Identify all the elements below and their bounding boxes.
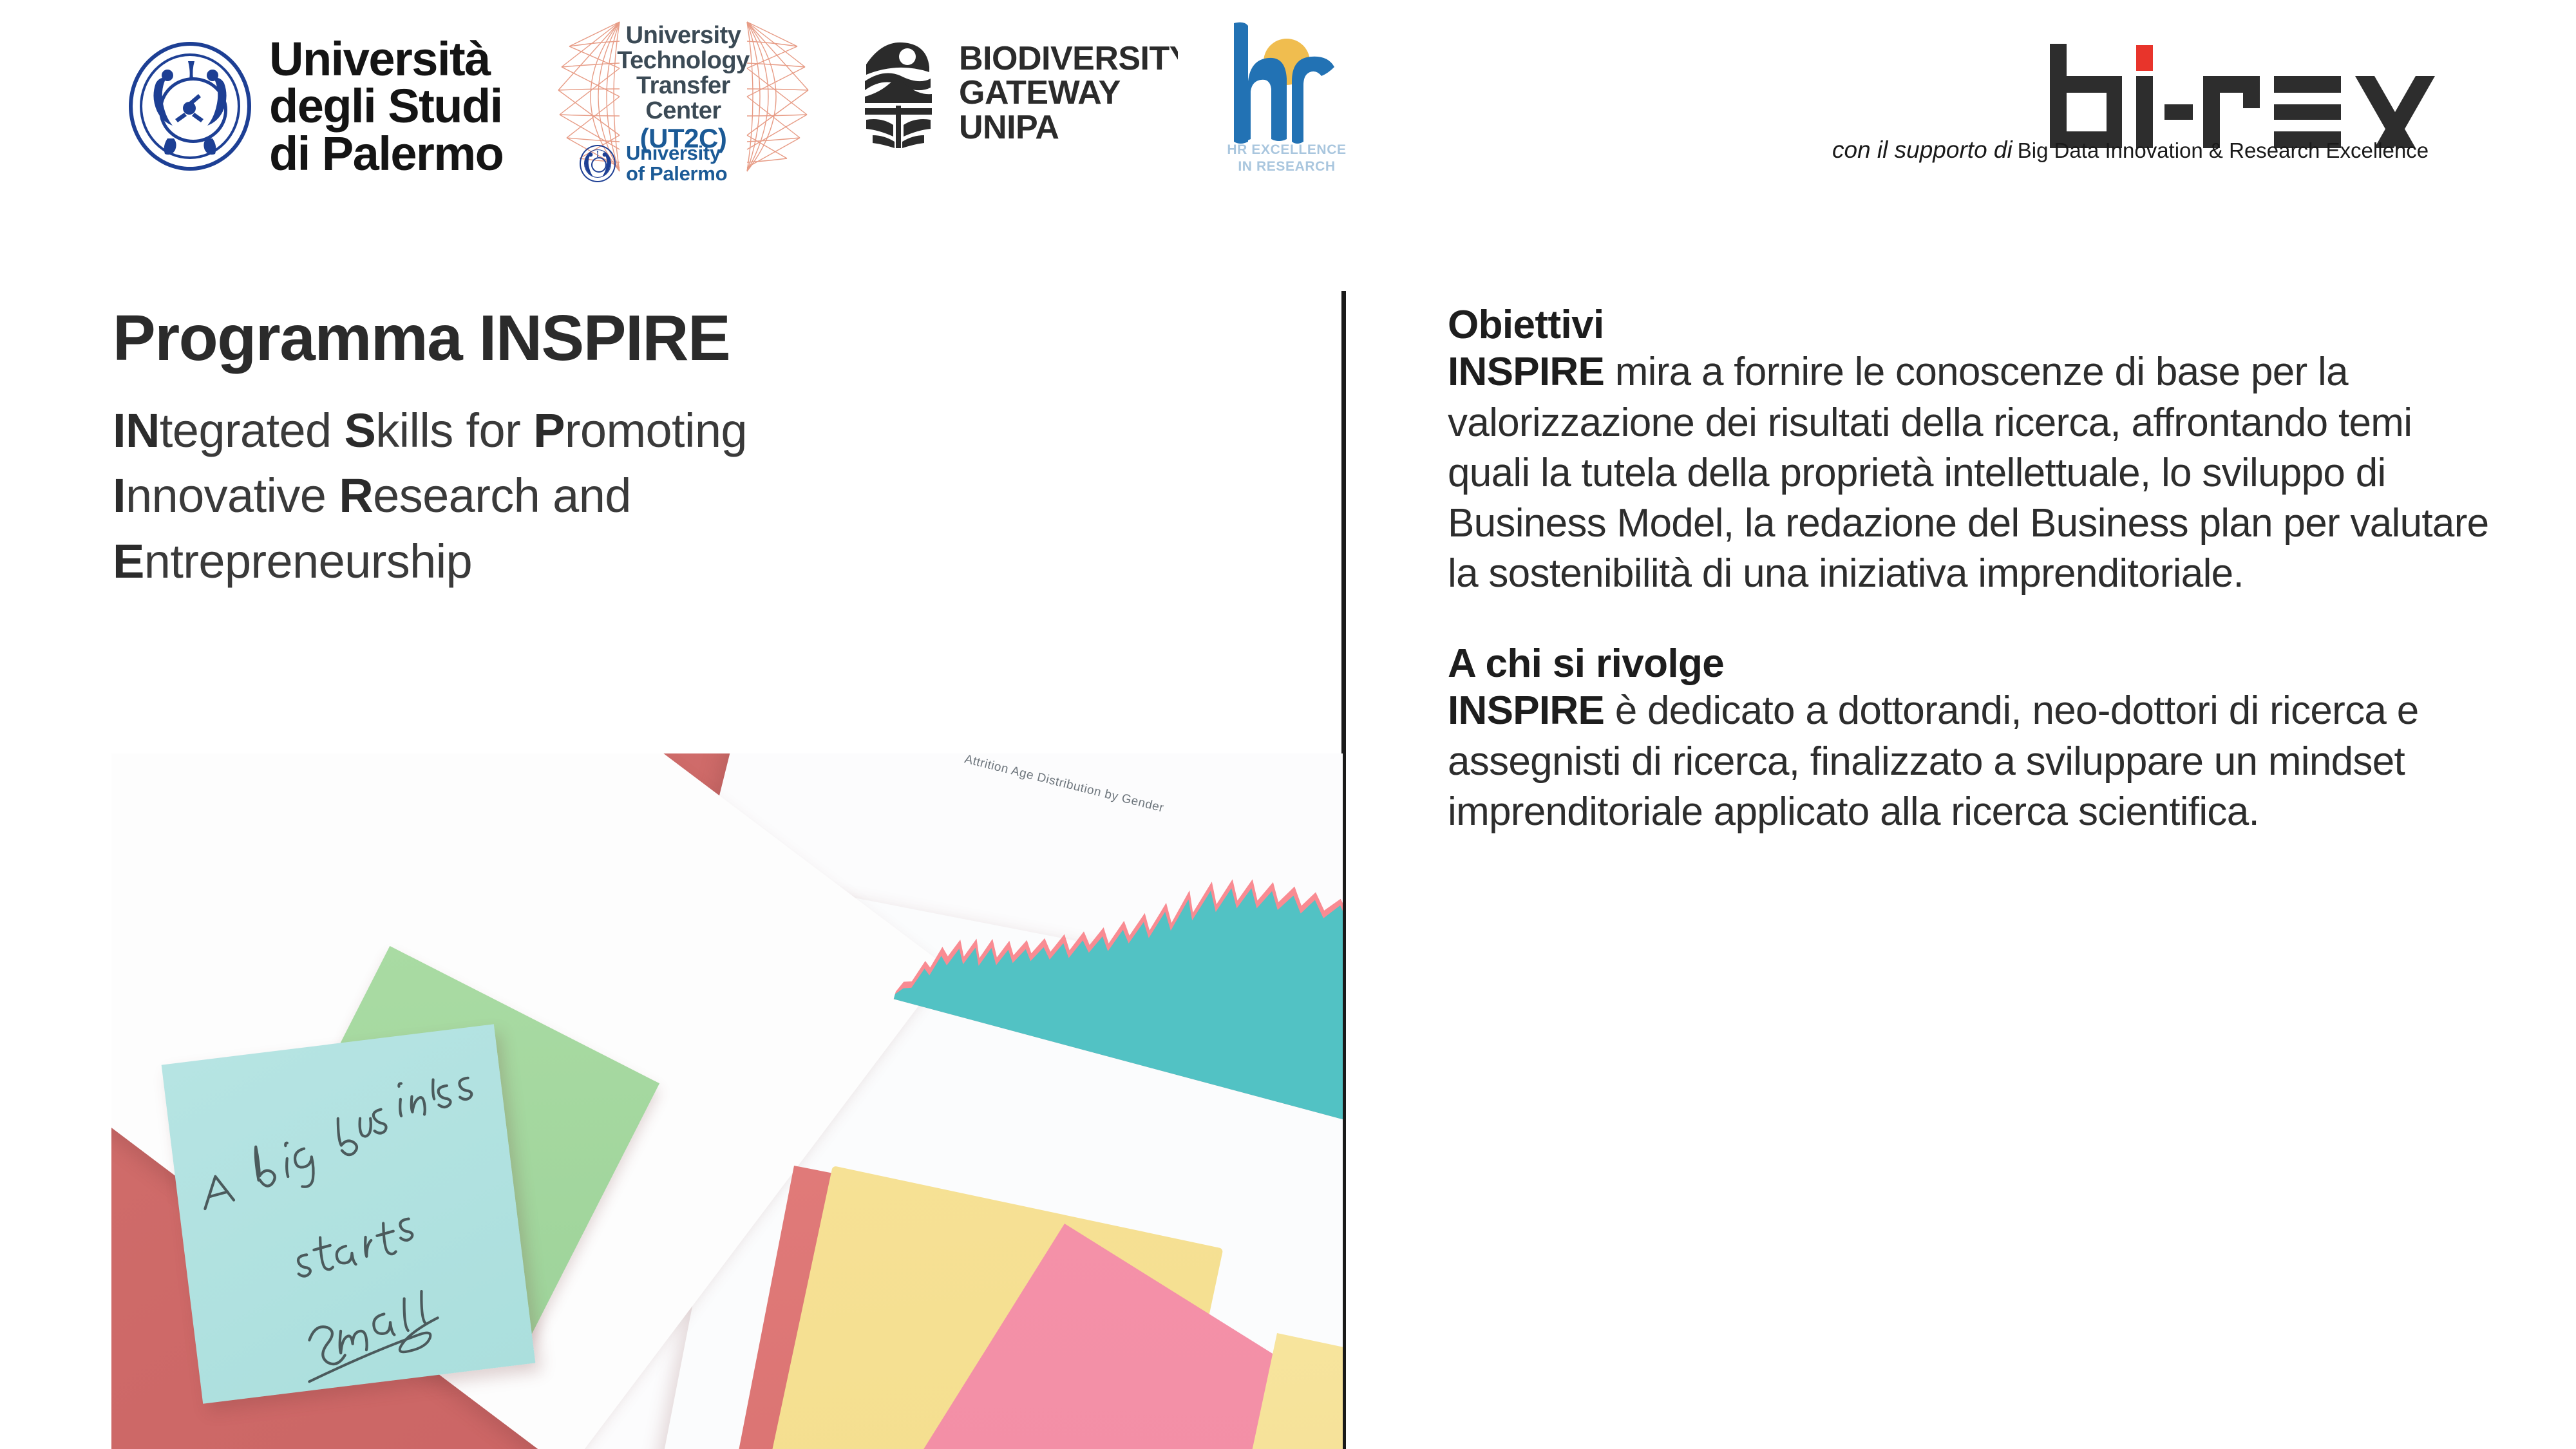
logo-ut2c: University Technology Transfer Center (U… [558, 17, 809, 178]
logo-biodiversity-gateway-unipa: BIODIVERSITY GATEWAY UNIPA [860, 39, 1178, 148]
logo-header: Università degli Studi di Palermo [0, 0, 2576, 213]
page-title: Programma INSPIRE [113, 303, 1317, 374]
ut2c-line-3: Transfer [608, 73, 759, 99]
ut2c-sub-line-1: University [626, 143, 727, 164]
unipa-seal-icon [129, 42, 251, 171]
acronym-r: R [339, 469, 373, 522]
ut2c-line-2: Technology [608, 48, 759, 73]
unipa-wordmark: Università degli Studi di Palermo [269, 35, 503, 177]
obiettivi-text: mira a fornire le conoscenze di base per… [1448, 350, 2488, 595]
photo-handwriting [162, 1024, 536, 1403]
logo-universita-degli-studi-di-palermo: Università degli Studi di Palermo [129, 35, 503, 177]
acronym-line-2: Innovative Research and [113, 463, 1317, 528]
bio-line-2: GATEWAY [959, 76, 1178, 111]
logo-hr-excellence-in-research: HR EXCELLENCE IN RESEARCH [1222, 19, 1345, 158]
inspire-lead-2: INSPIRE [1448, 688, 1604, 733]
logo-bi-rex: con il supporto di Big Data Innovation &… [2045, 40, 2450, 149]
acronym-romoting: romoting [565, 404, 747, 457]
acronym-s: S [345, 404, 376, 457]
birex-tagline: Big Data Innovation & Research Excellenc… [2018, 138, 2429, 163]
section-body-obiettivi: INSPIRE mira a fornire le conoscenze di … [1448, 347, 2491, 599]
unipa-line-1: Università [269, 35, 503, 82]
unipa-line-3: di Palermo [269, 130, 503, 177]
birex-support-label: con il supporto di [1832, 137, 2012, 164]
acronym-line-1: INtegrated Skills for Promoting [113, 398, 1317, 463]
program-acronym-expansion: INtegrated Skills for Promoting Innovati… [113, 398, 1317, 594]
acronym-kills-for: kills for [375, 404, 533, 457]
acronym-line-3: Entrepreneurship [113, 529, 1317, 594]
acronym-in: IN [113, 404, 160, 457]
acronym-i: I [113, 469, 126, 522]
sticky-note-photo: Attrition Age Distribution by Gender [111, 753, 1343, 1449]
hr-line-1: HR EXCELLENCE [1222, 142, 1351, 158]
acronym-nnovative: nnovative [126, 469, 339, 522]
ut2c-unipa-seal-icon [580, 145, 616, 182]
ut2c-sub-line-2: of Palermo [626, 164, 727, 184]
inspire-lead-1: INSPIRE [1448, 350, 1604, 394]
acronym-p: P [533, 404, 565, 457]
section-heading-obiettivi: Obiettivi [1448, 303, 2491, 347]
ut2c-line-1: University [608, 23, 759, 48]
left-column: Programma INSPIRE INtegrated Skills for … [113, 303, 1317, 594]
section-body-a-chi-si-rivolge: INSPIRE è dedicato a dottorandi, neo-dot… [1448, 686, 2491, 837]
unipa-seal-figures [129, 42, 251, 171]
bio-line-1: BIODIVERSITY [959, 42, 1178, 77]
ut2c-wordmark: University Technology Transfer Center (U… [608, 23, 759, 152]
bi-rex-wordmark [2045, 40, 2457, 153]
hr-excellence-icon [1222, 19, 1345, 158]
biodiversity-wordmark: BIODIVERSITY GATEWAY UNIPA [959, 42, 1178, 146]
biodiversity-leaf-icon [860, 39, 937, 148]
acronym-esearch-and: esearch and [373, 469, 631, 522]
acronym-e: E [113, 535, 144, 588]
unipa-line-2: degli Studi [269, 82, 503, 129]
hr-line-2: IN RESEARCH [1222, 158, 1351, 175]
hr-excellence-tagline: HR EXCELLENCE IN RESEARCH [1222, 142, 1351, 175]
section-heading-a-chi-si-rivolge: A chi si rivolge [1448, 641, 2491, 686]
right-column: Obiettivi INSPIRE mira a fornire le cono… [1448, 303, 2491, 837]
acronym-tegrated: tegrated [160, 404, 345, 457]
slide-root: Università degli Studi di Palermo [0, 0, 2576, 1449]
ut2c-line-4: Center [608, 99, 759, 124]
bio-line-3: UNIPA [959, 111, 1178, 146]
ut2c-sub-wordmark: University of Palermo [626, 143, 727, 184]
acronym-ntrepreneurship: ntrepreneurship [144, 535, 472, 588]
